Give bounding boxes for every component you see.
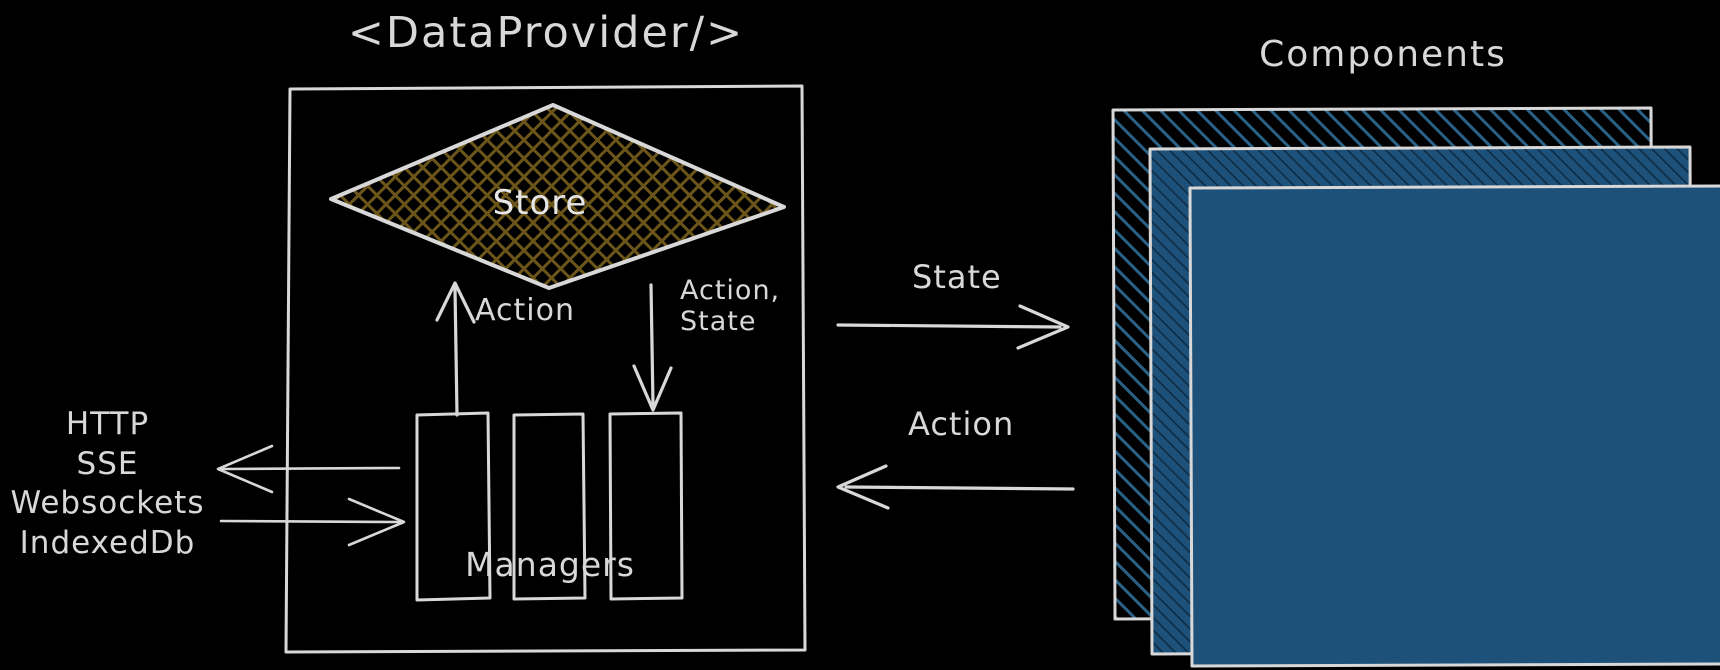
architecture-diagram: <DataProvider/> Components Store Manager… [0,0,1720,670]
components-title: Components [1113,34,1653,75]
transport-in-arrow-shaft [221,521,400,522]
action-state-down-arrow [634,285,671,410]
transports-label-group: HTTP SSE Websockets IndexedDb [0,405,215,564]
managers-label: Managers [400,545,700,584]
transport-in-arrow [221,499,404,545]
diagram-canvas [0,0,1720,670]
state-arrow [838,306,1068,348]
action-arrow [838,466,1073,508]
store-label: Store [440,183,640,223]
action-up-arrow-shaft [455,288,457,415]
transport-out-arrow-shaft [222,468,399,469]
transport-out-arrow [218,446,399,492]
transport-label-sse: SSE [0,445,215,485]
internal-action-state-label: Action, State [680,275,780,337]
state-arrow-shaft [838,325,1060,327]
action-arrow-label: Action [908,405,1014,443]
action-state-down-arrow-shaft [651,285,653,405]
internal-action-label: Action [475,293,575,328]
dataprovider-title: <DataProvider/> [286,8,806,58]
action-up-arrow [437,283,474,415]
transport-label-websockets: Websockets [0,484,215,524]
action-arrow-shaft [846,487,1073,489]
transport-label-http: HTTP [0,405,215,445]
state-arrow-label: State [912,258,1002,296]
components-front-layer [1190,186,1720,666]
components-stack [1113,108,1720,666]
internal-action-state-line1: Action, [680,275,780,306]
internal-action-state-line2: State [680,306,780,337]
transport-label-indexeddb: IndexedDb [0,524,215,564]
